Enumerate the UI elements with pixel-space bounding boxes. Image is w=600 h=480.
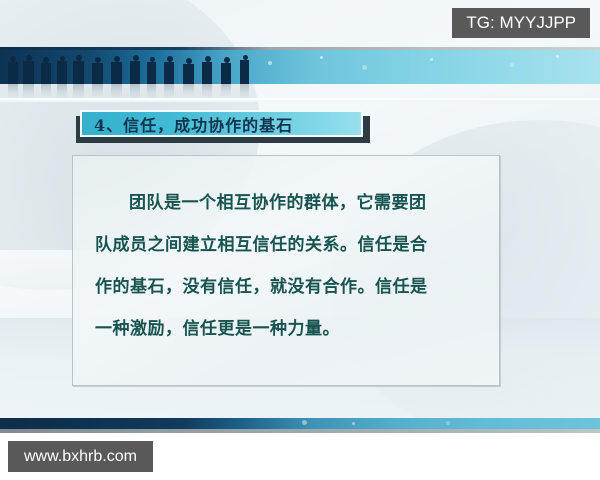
- reflection: [164, 84, 174, 98]
- reflection: [202, 84, 212, 98]
- person-silhouette-icon: [183, 64, 194, 84]
- banner-top-edge: [0, 47, 600, 50]
- person-silhouette-icon: [41, 63, 51, 84]
- body-line: 作的基石，没有信任，就没有合作。信任是: [95, 266, 477, 308]
- person-silhouette-icon: [23, 61, 34, 84]
- sparkle-icon: [302, 420, 307, 425]
- slide-canvas: 4、信任，成功协作的基石 团队是一个相互协作的群体，它需要团 队成员之间建立相互…: [0, 0, 600, 480]
- reflection: [130, 84, 140, 99]
- person-silhouette-icon: [147, 62, 156, 84]
- banner-gradient: [0, 50, 600, 84]
- person-silhouette-icon: [164, 62, 174, 84]
- person-silhouette-icon: [202, 62, 212, 84]
- watermark-bottom-left: www.bxhrb.com: [8, 441, 153, 472]
- reflection: [57, 84, 67, 99]
- sparkle-icon: [320, 56, 323, 59]
- section-title-plaque: 4、信任，成功协作的基石: [80, 110, 363, 137]
- person-silhouette-icon: [73, 61, 84, 84]
- body-line: 一种激励，信任更是一种力量。: [95, 308, 477, 350]
- sparkle-icon: [430, 58, 433, 61]
- sparkle-icon: [510, 63, 514, 67]
- reflection: [147, 84, 156, 98]
- person-silhouette-icon: [92, 63, 103, 84]
- person-silhouette-icon: [221, 63, 231, 84]
- content-panel: 团队是一个相互协作的群体，它需要团 队成员之间建立相互信任的关系。信任是合 作的…: [72, 155, 500, 386]
- person-silhouette-icon: [57, 61, 67, 84]
- person-silhouette-icon: [8, 62, 18, 84]
- reflection: [183, 84, 194, 96]
- reflection: [8, 84, 18, 98]
- reflection: [41, 84, 51, 97]
- body-line: 团队是一个相互协作的群体，它需要团: [95, 182, 477, 224]
- person-silhouette-icon: [111, 62, 122, 84]
- reflection: [221, 84, 231, 97]
- person-silhouette-icon: [240, 60, 249, 84]
- sparkle-icon: [352, 422, 355, 425]
- reflection: [111, 84, 122, 98]
- reflection: [92, 84, 103, 97]
- sparkle-icon: [362, 65, 367, 70]
- watermark-top-right: TG: MYYJJPP: [452, 8, 590, 38]
- banner-floor: [0, 98, 600, 102]
- body-line: 队成员之间建立相互信任的关系。信任是合: [95, 224, 477, 266]
- header-banner: [0, 47, 600, 102]
- page-title: 4、信任，成功协作的基石: [82, 112, 293, 136]
- footer-strip: [0, 418, 600, 429]
- sparkle-icon: [556, 55, 559, 58]
- reflection: [23, 84, 34, 99]
- sparkle-icon: [446, 421, 450, 425]
- sparkle-icon: [268, 61, 272, 65]
- person-silhouette-icon: [130, 61, 140, 84]
- reflection: [73, 84, 84, 99]
- body-paragraph: 团队是一个相互协作的群体，它需要团 队成员之间建立相互信任的关系。信任是合 作的…: [95, 182, 477, 350]
